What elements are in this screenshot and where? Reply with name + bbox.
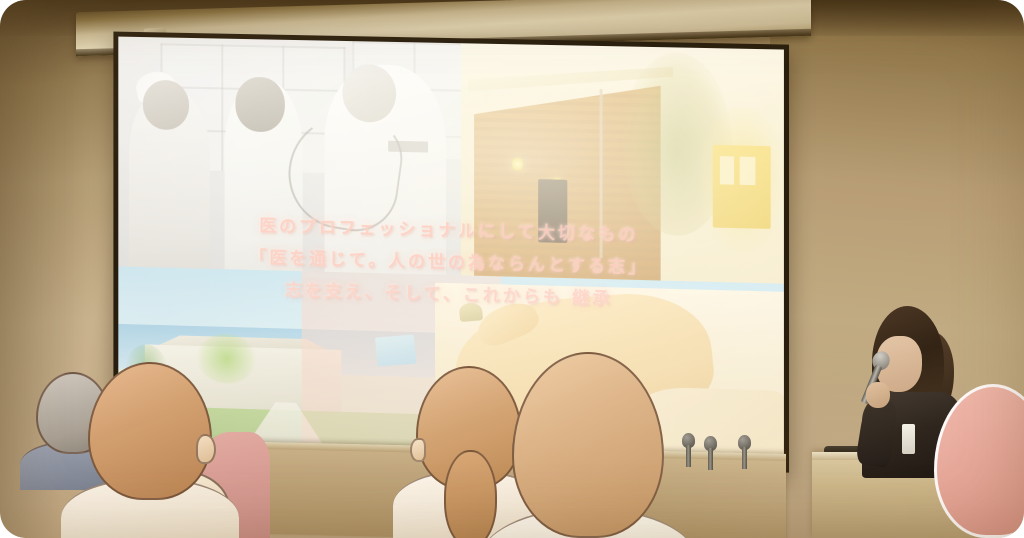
small-blue-card <box>375 334 416 366</box>
screenshot-root: 医のプロフェッショナルにして大切なもの 「医を通じて。人の世の為ならんとする志」… <box>0 0 1024 538</box>
audience-head <box>512 352 664 538</box>
audience-member-center <box>416 366 522 490</box>
brick-building-door <box>538 180 567 243</box>
audience-head <box>934 384 1024 538</box>
speaker-name-badge <box>902 424 915 454</box>
audience-member-center-right <box>512 352 664 538</box>
slide-panel-brick-building <box>461 43 784 292</box>
lecture-hall-scene: 医のプロフェッショナルにして大切なもの 「医を通じて。人の世の為ならんとする志」… <box>0 0 1024 538</box>
doctor-name-tag <box>388 140 427 152</box>
audience-head <box>88 362 212 500</box>
brick-building-pole <box>599 89 602 258</box>
audience-member-left <box>88 362 212 500</box>
audience-ear <box>410 438 426 462</box>
microphone-left <box>682 433 695 467</box>
patient-head <box>235 76 285 132</box>
hand-finger <box>472 295 542 350</box>
yellow-building <box>712 145 770 229</box>
microphone-center <box>704 436 717 470</box>
held-object <box>459 302 484 321</box>
audience-ear <box>196 434 216 464</box>
microphone-stem <box>742 447 747 469</box>
audience-member-right-pink <box>934 384 1024 538</box>
nurse-head <box>143 80 189 130</box>
speaker-hand <box>866 382 890 408</box>
microphone-stem <box>708 448 713 470</box>
microphone-right <box>738 435 751 469</box>
doctor-head <box>342 64 396 123</box>
microphone-stem <box>686 445 691 467</box>
lamp-icon <box>513 157 524 170</box>
audience-hair-bun <box>444 450 497 538</box>
